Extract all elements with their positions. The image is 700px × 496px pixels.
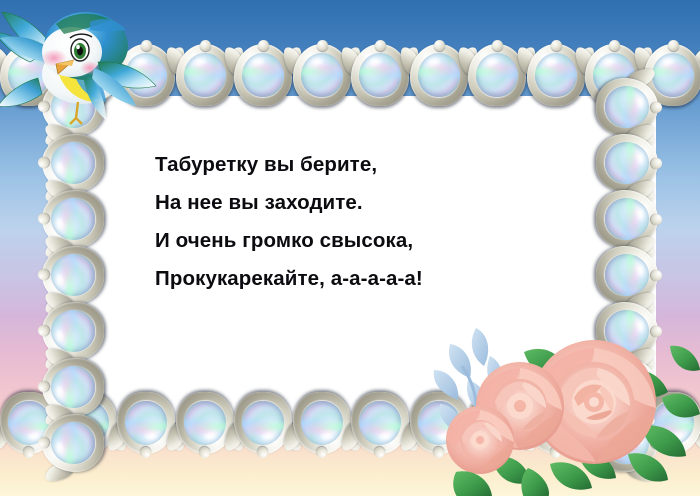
bluebird-illustration	[0, 2, 162, 128]
jewel-bud	[199, 447, 210, 458]
opal-stone	[51, 422, 95, 464]
jewel-bud	[551, 40, 562, 51]
opal-stone	[301, 53, 343, 97]
bird-wing-lower	[84, 62, 156, 120]
jewel-bud	[434, 40, 445, 51]
jewel-left	[42, 414, 104, 472]
opal-stone	[51, 366, 95, 408]
opal-stone	[51, 310, 95, 352]
jewel-bud	[200, 40, 211, 51]
opal-stone	[359, 53, 401, 97]
jewel-bud	[316, 447, 327, 458]
opal-stone	[605, 142, 649, 184]
jewel-setting	[42, 414, 104, 472]
rose-bloom-small	[446, 406, 514, 474]
bird-tail	[0, 78, 42, 107]
jewel-bud	[38, 381, 49, 392]
jewel-bud	[38, 325, 49, 336]
roses-illustration	[432, 322, 700, 496]
jewel-bud	[317, 40, 328, 51]
opal-stone	[51, 198, 95, 240]
opal-stone	[359, 401, 401, 445]
opal-stone	[184, 401, 226, 445]
opal-stone	[535, 53, 577, 97]
jewel-bud	[258, 40, 269, 51]
bird-legs	[70, 102, 82, 124]
poem-line: Табуретку вы берите,	[155, 146, 585, 184]
jewel-bud	[651, 102, 662, 113]
jewel-bud	[38, 269, 49, 280]
opal-stone	[605, 254, 649, 296]
poem-line: На нее вы заходите.	[155, 184, 585, 222]
opal-stone	[51, 254, 95, 296]
jewel-bud	[651, 270, 662, 281]
opal-stone	[125, 401, 167, 445]
opal-stone	[242, 401, 284, 445]
opal-stone	[418, 53, 460, 97]
poem-line: И очень громко свысока,	[155, 222, 585, 260]
jewel-bud	[492, 40, 503, 51]
opal-stone	[605, 86, 649, 128]
jewel-bud	[374, 447, 385, 458]
jewel-bud	[651, 214, 662, 225]
opal-stone	[51, 142, 95, 184]
jewel-bud	[38, 157, 49, 168]
opal-stone	[242, 53, 284, 97]
jewel-bud	[38, 213, 49, 224]
poem-line: Прокукарекайте, а-а-а-а-а!	[155, 260, 585, 298]
opal-stone	[605, 198, 649, 240]
opal-stone	[301, 401, 343, 445]
jewel-bud	[38, 437, 49, 448]
opal-stone	[184, 53, 226, 97]
opal-stone	[476, 53, 518, 97]
greeting-card-canvas: Табуретку вы берите, На нее вы заходите.…	[0, 0, 700, 496]
jewel-bud	[140, 447, 151, 458]
jewel-bud	[651, 158, 662, 169]
jewel-bud	[375, 40, 386, 51]
poem-text-block: Табуретку вы берите, На нее вы заходите.…	[155, 146, 585, 298]
jewel-bud	[257, 447, 268, 458]
